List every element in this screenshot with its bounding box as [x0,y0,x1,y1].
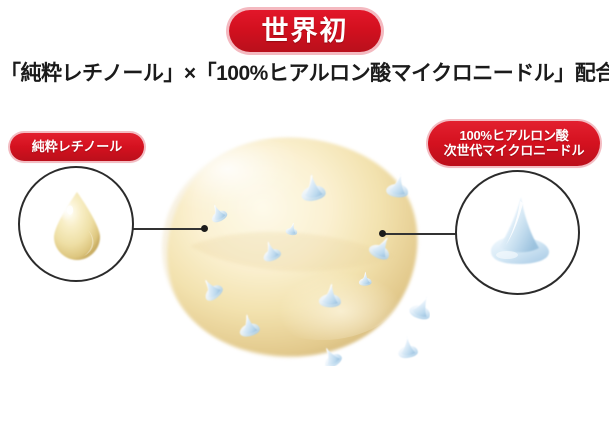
callout-label-left: 純粋レチノール [10,133,144,161]
connector-dot-right [379,230,386,237]
worlds-first-badge: 世界初 [229,10,381,52]
cream-blob-with-microneedles [160,128,430,366]
retinol-droplet-icon [48,190,106,262]
callout-label-right-line2: 次世代マイクロニードル [444,144,585,159]
callout-label-right: 100%ヒアルロン酸 次世代マイクロニードル [428,121,600,166]
microneedle-cone-icon [483,192,555,270]
connector-line-left [133,228,205,230]
connector-line-right [382,233,457,235]
callout-label-left-line1: 純粋レチノール [32,140,123,155]
microneedle-icon [397,335,419,359]
connector-dot-left [201,225,208,232]
callout-label-right-line1: 100%ヒアルロン酸 [459,129,568,144]
worlds-first-badge-label: 世界初 [262,18,349,45]
infographic-canvas: 世界初 「純粋レチノール」×「100%ヒアルロン酸マイクロニードル」配合 [0,0,609,422]
page-subtitle: 「純粋レチノール」×「100%ヒアルロン酸マイクロニードル」配合 [0,62,609,86]
microneedle-icon [408,292,430,322]
